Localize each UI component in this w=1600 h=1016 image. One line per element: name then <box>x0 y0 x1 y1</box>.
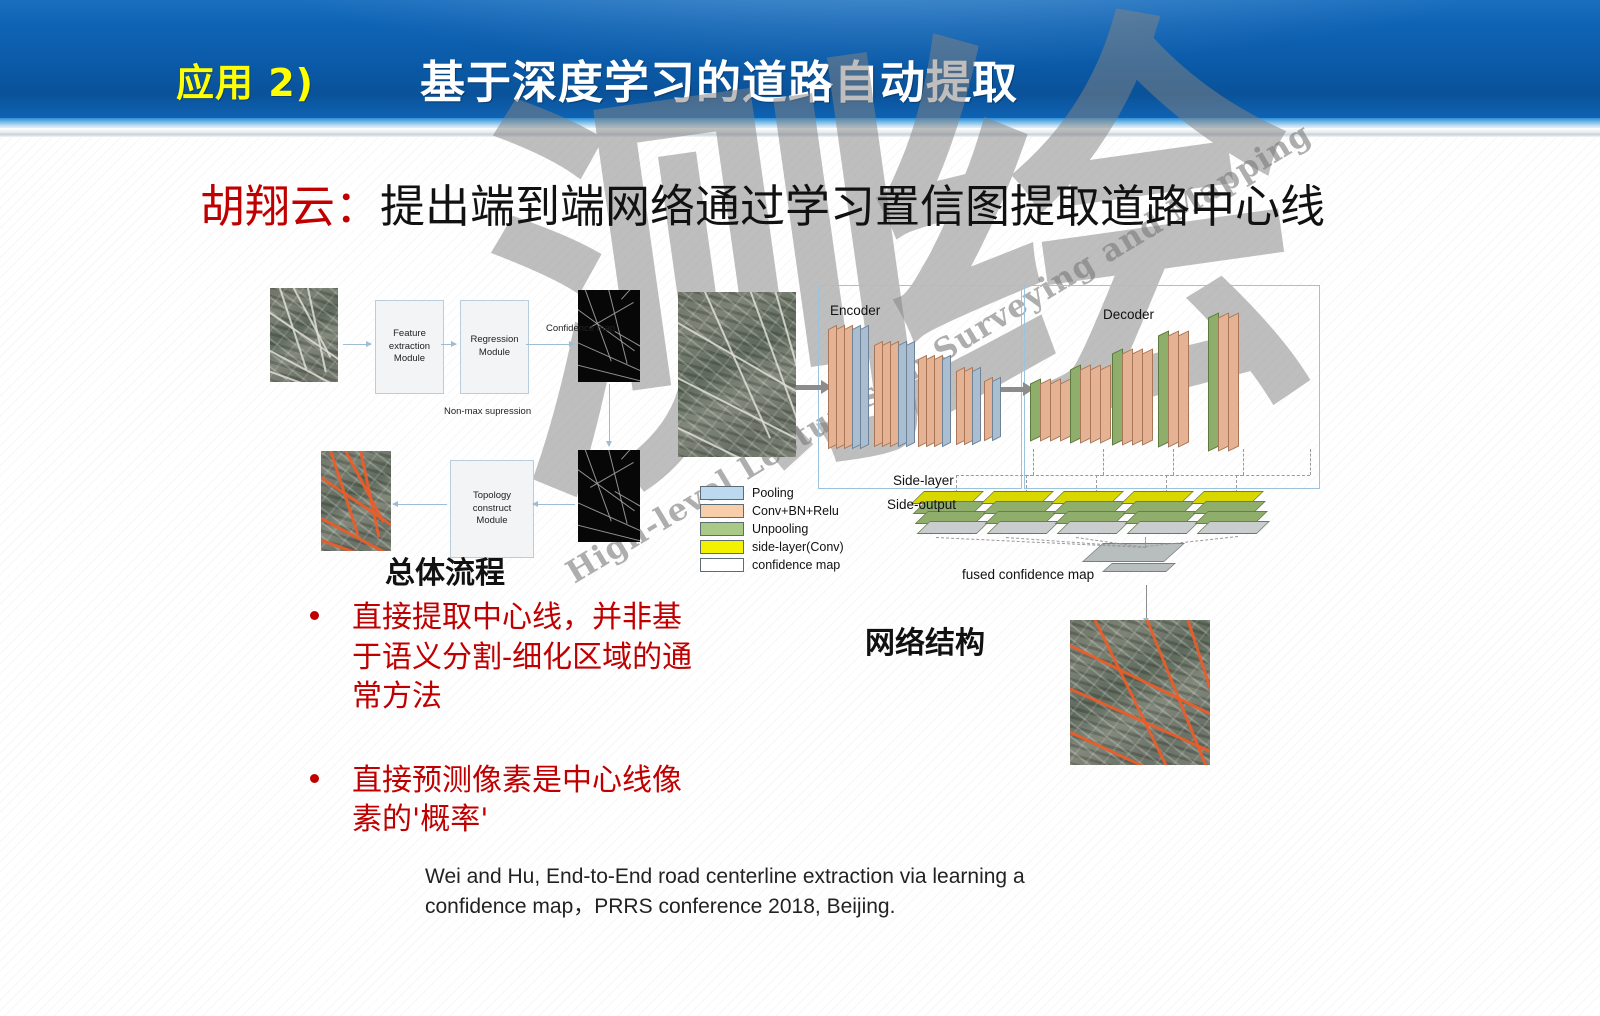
side-layer-plate <box>1127 521 1200 534</box>
bullet-text-1: 直接提取中心线，并非基于语义分割-细化区域的通常方法 <box>352 598 710 717</box>
side-layer-stack <box>1134 491 1198 537</box>
side-layer-stack <box>1204 491 1268 537</box>
side-layer-stack <box>1064 491 1128 537</box>
fused-confidence-map-label: fused confidence map <box>962 567 1094 582</box>
network-layer-slab <box>1228 312 1239 451</box>
arrow-fused-to-result <box>1146 585 1147 623</box>
network-layer-slab <box>992 377 1001 441</box>
flow-box-topology: Topology constructModule <box>450 460 534 558</box>
subtitle-line: 胡翔云：提出端到端网络通过学习置信图提取道路中心线 <box>200 170 1325 235</box>
road-line <box>678 371 796 453</box>
arrow-input-to-encoder <box>796 385 822 390</box>
network-input-aerial-image <box>678 292 796 457</box>
overall-flowchart: Feature extractionModule Regression Modu… <box>265 278 665 548</box>
arrow-nonmax-down <box>609 384 610 446</box>
flow-box-feature-extraction: Feature extractionModule <box>375 300 444 394</box>
label-confidence-map: Confidence map <box>546 323 615 334</box>
network-layer-slab <box>1100 364 1111 443</box>
side-layer-plate <box>1057 521 1130 534</box>
confidence-map-image <box>578 290 640 382</box>
connector-segment <box>1096 475 1173 476</box>
arrow-feature-to-regression <box>441 344 456 345</box>
network-layer-slab <box>906 341 915 447</box>
citation-line-2: confidence map，PRRS conference 2018, Bei… <box>425 892 1185 922</box>
fused-plate-bottom <box>1102 563 1176 572</box>
network-layer-slab <box>1142 348 1153 445</box>
centerline-stroke <box>607 450 627 524</box>
side-layer-label: Side-layer <box>893 473 954 488</box>
centerline-stroke <box>578 467 635 512</box>
bullet-list: 直接提取中心线，并非基于语义分割-细化区域的通常方法 直接预测像素是中心线像素的… <box>310 598 710 884</box>
connector-segment <box>1236 475 1310 476</box>
flowchart-caption: 总体流程 <box>385 548 505 592</box>
flow-box-regression-label: Regression Module <box>463 334 526 360</box>
network-architecture-diagram: Encoder Decoder Side-layer Side-output f… <box>678 285 1318 595</box>
citation-line-1: Wei and Hu, End-to-End road centerline e… <box>425 862 1185 892</box>
side-output-label: Side-output <box>887 497 956 512</box>
encoder-label: Encoder <box>830 303 880 318</box>
fused-converging-arrow <box>1146 536 1238 547</box>
decoder-label: Decoder <box>1103 307 1154 322</box>
fused-confidence-map-shape <box>1103 543 1189 583</box>
connector-segment <box>1173 449 1174 475</box>
flow-box-topology-label: Topology constructModule <box>453 490 531 528</box>
centerline-stroke <box>621 450 640 460</box>
connector-segment <box>956 475 1033 476</box>
network-caption: 网络结构 <box>865 618 985 662</box>
bullet-dot-icon <box>310 611 319 620</box>
nms-confidence-map-image <box>578 450 640 542</box>
network-layer-slab <box>972 367 981 445</box>
side-layer-plate <box>1197 521 1270 534</box>
connector-segment <box>1243 449 1244 475</box>
road-line <box>1140 620 1210 765</box>
side-layer-stack <box>994 491 1058 537</box>
connector-segment <box>1033 449 1034 475</box>
header-application-label: 应用 2) <box>176 52 314 107</box>
list-item: 直接预测像素是中心线像素的'概率' <box>310 761 710 840</box>
road-line <box>678 421 796 457</box>
connector-segment <box>1026 475 1103 476</box>
road-line <box>1070 724 1210 765</box>
subtitle-text: 提出端到端网络通过学习置信图提取道路中心线 <box>380 180 1325 233</box>
network-layer-slab <box>860 325 869 449</box>
arrow-nms-to-topology <box>533 504 575 505</box>
road-line <box>678 315 796 405</box>
bullet-dot-icon <box>310 774 319 783</box>
bullet-text-2: 直接预测像素是中心线像素的'概率' <box>352 761 710 840</box>
subtitle-author: 胡翔云： <box>200 180 380 233</box>
arrow-regression-to-confidence <box>526 344 574 345</box>
input-aerial-image <box>270 288 338 382</box>
final-result-aerial-image <box>1070 620 1210 765</box>
connector-segment <box>1310 449 1311 475</box>
citation: Wei and Hu, End-to-End road centerline e… <box>425 862 1185 923</box>
connector-segment <box>1166 475 1243 476</box>
slide-canvas: 应用 2) 基于深度学习的道路自动提取 测绘 High-level Lectur… <box>0 0 1600 1016</box>
result-aerial-image <box>321 451 391 551</box>
list-item: 直接提取中心线，并非基于语义分割-细化区域的通常方法 <box>310 598 710 717</box>
flow-box-regression: Regression Module <box>460 300 529 394</box>
network-layer-slab <box>1178 330 1189 447</box>
header-title: 基于深度学习的道路自动提取 <box>420 46 1018 111</box>
side-layer-plate <box>987 521 1060 534</box>
arrow-topology-to-result <box>393 504 447 505</box>
header-underline-gray <box>0 128 1600 137</box>
arrow-input-to-feature <box>343 344 371 345</box>
label-non-max-suppression: Non-max supression <box>444 406 531 417</box>
network-layer-slab <box>942 355 951 447</box>
connector-segment <box>1103 449 1104 475</box>
centerline-stroke <box>621 290 640 300</box>
road-line <box>770 292 796 435</box>
side-layer-plate <box>917 521 990 534</box>
arrow-encoder-to-decoder <box>1000 387 1024 392</box>
flow-box-feature-extraction-label: Feature extractionModule <box>378 328 441 366</box>
